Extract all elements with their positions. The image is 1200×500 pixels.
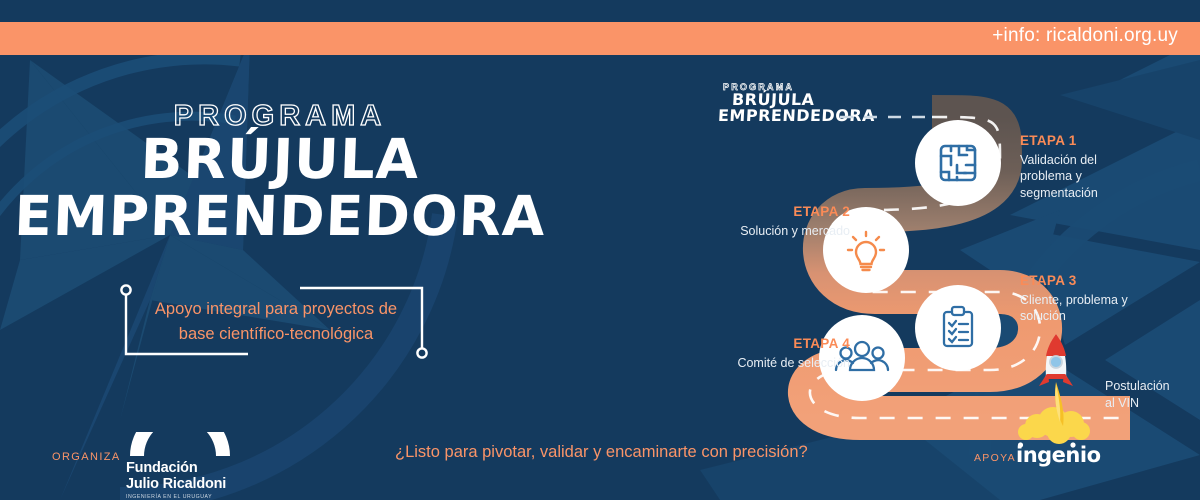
hero-title-line2: EMPRENDEDORA (0, 190, 561, 243)
organizer-logo[interactable]: Fundación Julio Ricaldoni INGENIERÍA EN … (126, 432, 236, 500)
stage-label-2: ETAPA 2 Solución y mercado (730, 203, 850, 239)
hero-block: PROGRAMA BRÚJULA EMPRENDEDORA (0, 100, 560, 243)
stage-4-number: ETAPA 4 (730, 335, 850, 353)
stage-3-number: ETAPA 3 (1020, 272, 1160, 290)
organizer-name-line1: Fundación (126, 461, 236, 477)
organizer-tagline: INGENIERÍA EN EL URUGUAY (126, 494, 236, 500)
arch-icon (126, 432, 234, 456)
stage-label-3: ETAPA 3 Cliente, problema y solución (1020, 272, 1160, 325)
destination-label-line1: Postulación (1105, 378, 1200, 395)
stage-1-description: Validación del problema y segmentación (1020, 152, 1150, 202)
stage-node-1[interactable] (915, 120, 1001, 206)
destination-label-line2: al VIN (1105, 395, 1200, 412)
roadmap: PROGRAMA BRÚJULA EMPRENDEDORA (700, 60, 1200, 460)
hero-subtitle: Apoyo integral para proyectos de base ci… (126, 297, 426, 347)
stage-2-number: ETAPA 2 (730, 203, 850, 221)
stage-4-description: Comité de selección (730, 355, 850, 372)
frame-dot-top-left (121, 285, 130, 294)
stage-2-description: Solución y mercado (730, 223, 850, 240)
organiza-label: ORGANIZA (52, 451, 121, 463)
hero-subtitle-line2: base científico-tecnológica (126, 322, 426, 347)
info-banner-text[interactable]: +info: ricaldoni.org.uy (992, 25, 1178, 47)
organizer-name-line2: Julio Ricaldoni (126, 477, 236, 493)
infographic-canvas: +info: ricaldoni.org.uy PROGRAMA BRÚJULA… (0, 0, 1200, 500)
hero-subtitle-line1: Apoyo integral para proyectos de (126, 297, 426, 322)
stage-node-3[interactable] (915, 285, 1001, 371)
destination-label: Postulación al VIN (1105, 378, 1200, 411)
hero-title-line1: BRÚJULA (0, 133, 561, 186)
stage-1-number: ETAPA 1 (1020, 132, 1150, 150)
frame-dot-bottom-right (417, 348, 426, 357)
stage-3-description: Cliente, problema y solución (1020, 292, 1160, 325)
page-title: BRÚJULA EMPRENDEDORA (0, 133, 560, 243)
stage-label-1: ETAPA 1 Validación del problema y segmen… (1020, 132, 1150, 201)
stage-label-4: ETAPA 4 Comité de selección (730, 335, 850, 371)
